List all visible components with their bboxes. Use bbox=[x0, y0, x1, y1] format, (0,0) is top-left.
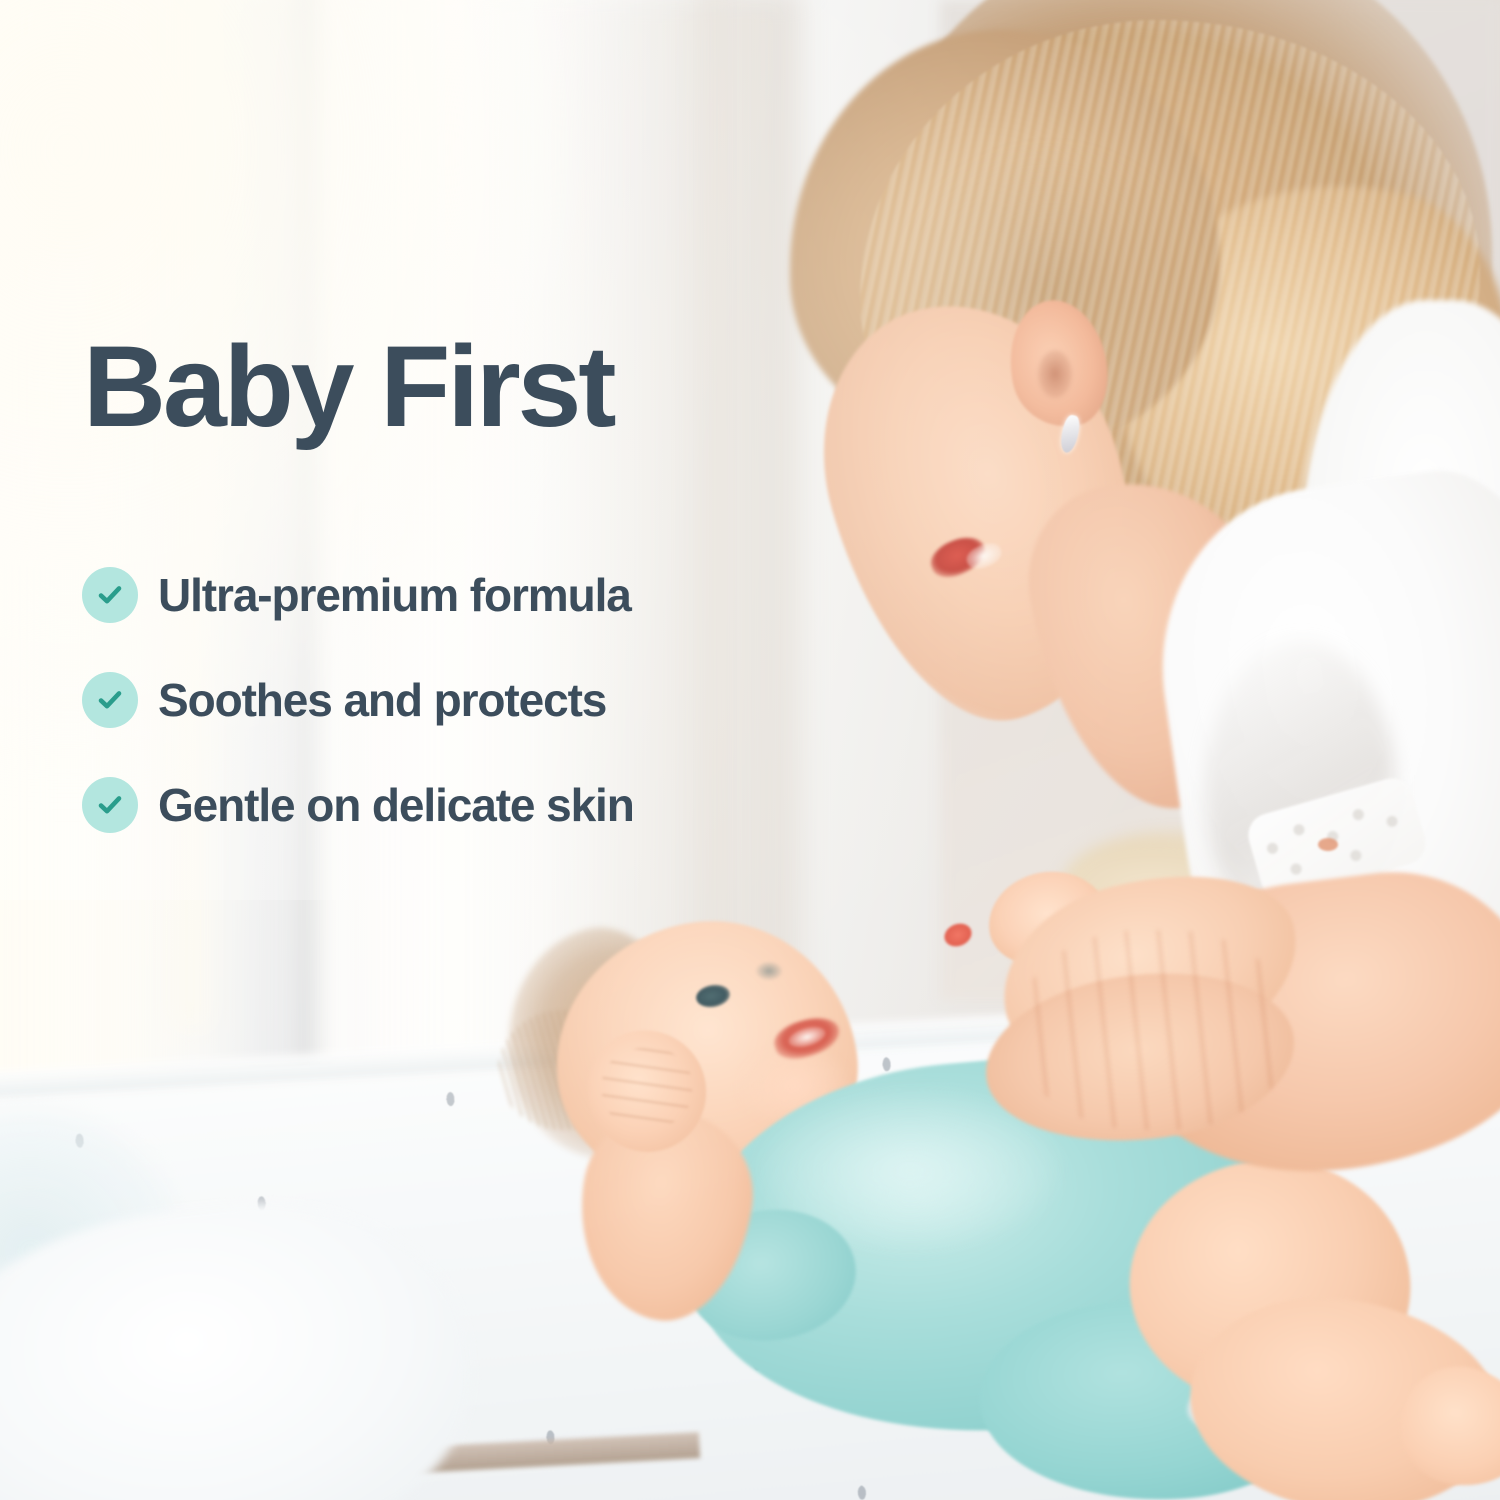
page-title: Baby First bbox=[83, 330, 613, 445]
feature-item: Ultra-premium formula bbox=[82, 552, 634, 638]
product-banner: Baby First Ultra-premium formula Soothes… bbox=[0, 0, 1500, 1500]
feature-item: Gentle on delicate skin bbox=[82, 762, 634, 848]
text-overlay: Baby First Ultra-premium formula Soothes… bbox=[0, 0, 1500, 1500]
check-icon bbox=[82, 672, 138, 728]
check-icon bbox=[82, 777, 138, 833]
feature-label: Gentle on delicate skin bbox=[158, 778, 634, 832]
feature-label: Soothes and protects bbox=[158, 673, 606, 727]
feature-label: Ultra-premium formula bbox=[158, 568, 631, 622]
check-icon bbox=[82, 567, 138, 623]
feature-list: Ultra-premium formula Soothes and protec… bbox=[82, 552, 634, 867]
feature-item: Soothes and protects bbox=[82, 657, 634, 743]
